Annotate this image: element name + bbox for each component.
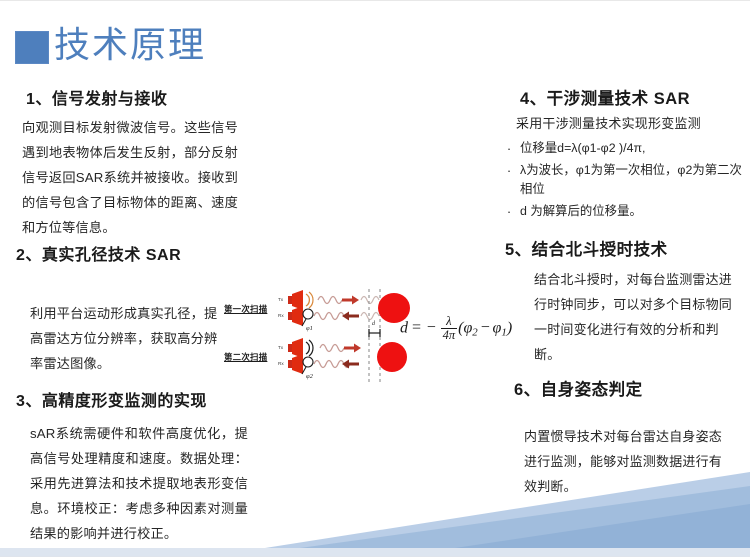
rx-antenna-icon-scan2 (288, 354, 313, 374)
tx-arrow-scan1 (342, 296, 359, 305)
formula-numerator: λ (441, 315, 458, 328)
displacement-marker (369, 329, 380, 337)
rx-arrow-scan2 (342, 360, 359, 369)
formula-lhs: d (400, 319, 408, 336)
section-1-heading: 1、信号发射与接收 (26, 85, 167, 109)
section-3-heading: 3、高精度形变监测的实现 (16, 387, 207, 411)
slide-canvas: 技术原理 1、信号发射与接收 向观测目标发射微波信号。这些信号遇到地表物体后发生… (0, 0, 750, 557)
formula-equals: = − (411, 319, 437, 336)
interferometry-formula: d= − λ 4π (φ2−φ1) (400, 315, 512, 342)
target-object-scan2 (377, 342, 407, 372)
formula-term1: φ (463, 319, 472, 336)
title-accent-square (15, 31, 49, 64)
tx-arrow-scan2 (344, 344, 361, 353)
list-item: · d 为解算后的位移量。 (498, 202, 746, 221)
bullet-marker-icon: · (498, 139, 520, 158)
section-3-body: sAR系统需硬件和软件高度优化，提高信号处理精度和速度。数据处理：采用先进算法和… (30, 421, 248, 546)
tx-wave-scan1 (318, 297, 342, 304)
section-1-body: 向观测目标发射微波信号。这些信号遇到地表物体后发生反射，部分反射信号返回SAR系… (22, 115, 238, 240)
section-4-bullet-list: · 位移量d=λ(φ1-φ2 )/4π, · λ为波长，φ1为第一次相位，φ2为… (498, 139, 746, 224)
section-2-body: 利用平台运动形成真实孔径，提高雷达方位分辨率，获取高分辨率雷达图像。 (30, 301, 230, 376)
formula-term1-sub: 2 (472, 326, 477, 338)
list-item: · λ为波长，φ1为第一次相位，φ2为第二次相位 (498, 161, 746, 199)
sar-interferometry-diagram: 第一次扫描 第二次扫描 Tx Rx Tx Rx φ1 φ2 (222, 289, 502, 384)
rx-antenna-icon-scan1 (288, 306, 313, 326)
bullet-marker-icon: · (498, 202, 520, 221)
section-5-body: 结合北斗授时，对每台监测雷达进行时钟同步，可以对多个目标物同一时间变化进行有效的… (534, 267, 739, 367)
tx-wave-b-scan1 (361, 297, 379, 304)
rx-wave-b-scan1 (361, 313, 379, 320)
rx-wave-scan1 (314, 313, 344, 320)
section-4-heading: 4、干涉测量技术 SAR (520, 85, 690, 109)
tx-wave-scan2 (320, 345, 344, 352)
bullet-text: λ为波长，φ1为第一次相位，φ2为第二次相位 (520, 161, 746, 199)
page-title: 技术原理 (54, 23, 206, 67)
section-6-body: 内置惯导技术对每台雷达自身姿态进行监测，能够对监测数据进行有效判断。 (524, 424, 729, 499)
section-6-heading: 6、自身姿态判定 (514, 376, 643, 400)
rx-arrow-scan1 (342, 312, 359, 321)
displacement-label: d (372, 321, 375, 327)
bullet-text: 位移量d=λ(φ1-φ2 )/4π, (520, 139, 746, 158)
formula-minus: − (480, 319, 491, 336)
section-4-body: 采用干涉测量技术实现形变监测 (516, 113, 750, 135)
section-5-heading: 5、结合北斗授时技术 (505, 236, 668, 260)
list-item: · 位移量d=λ(φ1-φ2 )/4π, (498, 139, 746, 158)
formula-denominator: 4π (441, 328, 458, 342)
formula-fraction: λ 4π (441, 315, 458, 342)
wave-layer-dark (455, 504, 750, 548)
footer-band (0, 548, 750, 556)
section-2-heading: 2、真实孔径技术 SAR (16, 241, 181, 265)
bullet-marker-icon: · (498, 161, 520, 180)
bullet-text: d 为解算后的位移量。 (520, 202, 746, 221)
formula-paren-close: ) (507, 319, 512, 336)
